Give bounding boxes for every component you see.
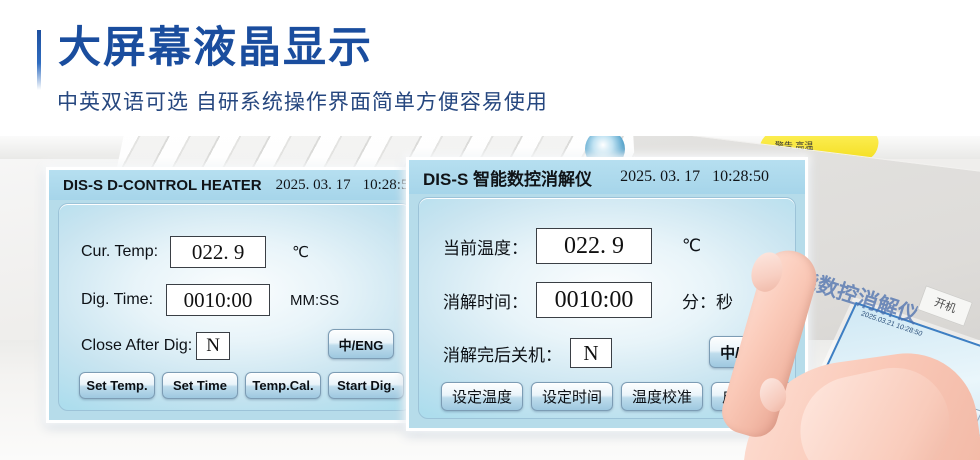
english-row-dig-time: Dig. Time: 0010:00 MM:SS bbox=[81, 284, 339, 316]
chinese-field-cur-temp[interactable]: 022. 9 bbox=[536, 228, 652, 264]
mini-screen-close-label: 完后关机： bbox=[811, 403, 848, 424]
english-unit-cur-temp: ℃ bbox=[292, 243, 309, 261]
english-label-dig-time: Dig. Time: bbox=[81, 291, 153, 309]
chinese-field-dig-time[interactable]: 0010:00 bbox=[536, 282, 652, 318]
chinese-button-start-dig[interactable]: 启动消解 bbox=[711, 382, 793, 411]
chinese-row-close-after: 消解完后关机： N bbox=[443, 338, 612, 368]
english-field-dig-time[interactable]: 0010:00 bbox=[166, 284, 270, 316]
chinese-button-temp-cal[interactable]: 温度校准 bbox=[621, 382, 703, 411]
chinese-panel-title: DIS-S 智能数控消解仪 bbox=[423, 165, 592, 190]
english-button-set-time[interactable]: Set Time bbox=[162, 372, 238, 399]
chinese-unit-cur-temp: ℃ bbox=[682, 236, 701, 256]
chinese-button-set-time[interactable]: 设定时间 bbox=[531, 382, 613, 411]
chinese-control-panel: DIS-S 智能数控消解仪 2025. 03. 17 10:28:50 当前温度… bbox=[406, 157, 808, 431]
page-title: 大屏幕液晶显示 bbox=[58, 24, 373, 73]
english-label-cur-temp: Cur. Temp: bbox=[81, 243, 158, 261]
english-label-close-after: Close After Dig: bbox=[81, 337, 192, 355]
mini-screen-temp-unit: ℃ bbox=[894, 363, 905, 373]
mini-screen-button-1: 启动消解 bbox=[937, 421, 980, 448]
english-panel-titlebar: DIS-S D-CONTROL HEATER 2025. 03. 17 10:2… bbox=[49, 170, 421, 200]
english-field-cur-temp[interactable]: 022. 9 bbox=[170, 236, 266, 268]
english-lang-toggle-button[interactable]: 中/ENG bbox=[328, 329, 394, 359]
english-button-temp-cal[interactable]: Temp.Cal. bbox=[245, 372, 321, 399]
chinese-panel-date: 2025. 03. 17 bbox=[620, 168, 700, 186]
chinese-panel-time: 10:28:50 bbox=[712, 168, 769, 186]
accent-bar-icon bbox=[37, 30, 41, 90]
english-control-panel: DIS-S D-CONTROL HEATER 2025. 03. 17 10:2… bbox=[46, 167, 424, 423]
chinese-lang-toggle-button[interactable]: 中/ENG bbox=[709, 336, 783, 368]
chinese-unit-dig-time: 分：秒 bbox=[682, 288, 733, 313]
chinese-panel-titlebar: DIS-S 智能数控消解仪 2025. 03. 17 10:28:50 bbox=[409, 160, 805, 194]
page-header: 大屏幕液晶显示 中英双语可选 自研系统操作界面简单方便容易使用 bbox=[0, 0, 980, 136]
chinese-panel-body: 当前温度： 022. 9 ℃ 消解时间： 0010:00 分：秒 消解完后关机：… bbox=[418, 197, 796, 419]
screenshot-root: 大屏幕液晶显示 中英双语可选 自研系统操作界面简单方便容易使用 警告 高温 20… bbox=[0, 0, 980, 460]
english-field-close-after[interactable]: N bbox=[196, 332, 230, 360]
english-button-set-temp[interactable]: Set Temp. bbox=[79, 372, 155, 399]
mini-screen-flag-field: N bbox=[861, 418, 887, 439]
chinese-button-set-temp[interactable]: 设定温度 bbox=[441, 382, 523, 411]
english-row-close-after: Close After Dig: N bbox=[81, 332, 230, 360]
chinese-row-dig-time: 消解时间： 0010:00 分：秒 bbox=[443, 282, 733, 318]
chinese-field-close-after[interactable]: N bbox=[570, 338, 612, 368]
chinese-row-cur-temp: 当前温度： 022. 9 ℃ bbox=[443, 228, 701, 264]
english-unit-dig-time: MM:SS bbox=[290, 292, 339, 309]
chinese-label-close-after: 消解完后关机： bbox=[443, 341, 562, 366]
english-panel-title: DIS-S D-CONTROL HEATER bbox=[63, 177, 262, 194]
english-button-start-dig[interactable]: Start Dig. bbox=[328, 372, 404, 399]
chinese-label-cur-temp: 当前温度： bbox=[443, 234, 528, 259]
english-panel-body: Cur. Temp: 022. 9 ℃ Dig. Time: 0010:00 M… bbox=[58, 203, 412, 411]
chinese-label-dig-time: 消解时间： bbox=[443, 288, 528, 313]
page-subtitle: 中英双语可选 自研系统操作界面简单方便容易使用 bbox=[57, 86, 548, 116]
english-row-cur-temp: Cur. Temp: 022. 9 ℃ bbox=[81, 236, 309, 268]
english-panel-date: 2025. 03. 17 bbox=[276, 177, 351, 194]
